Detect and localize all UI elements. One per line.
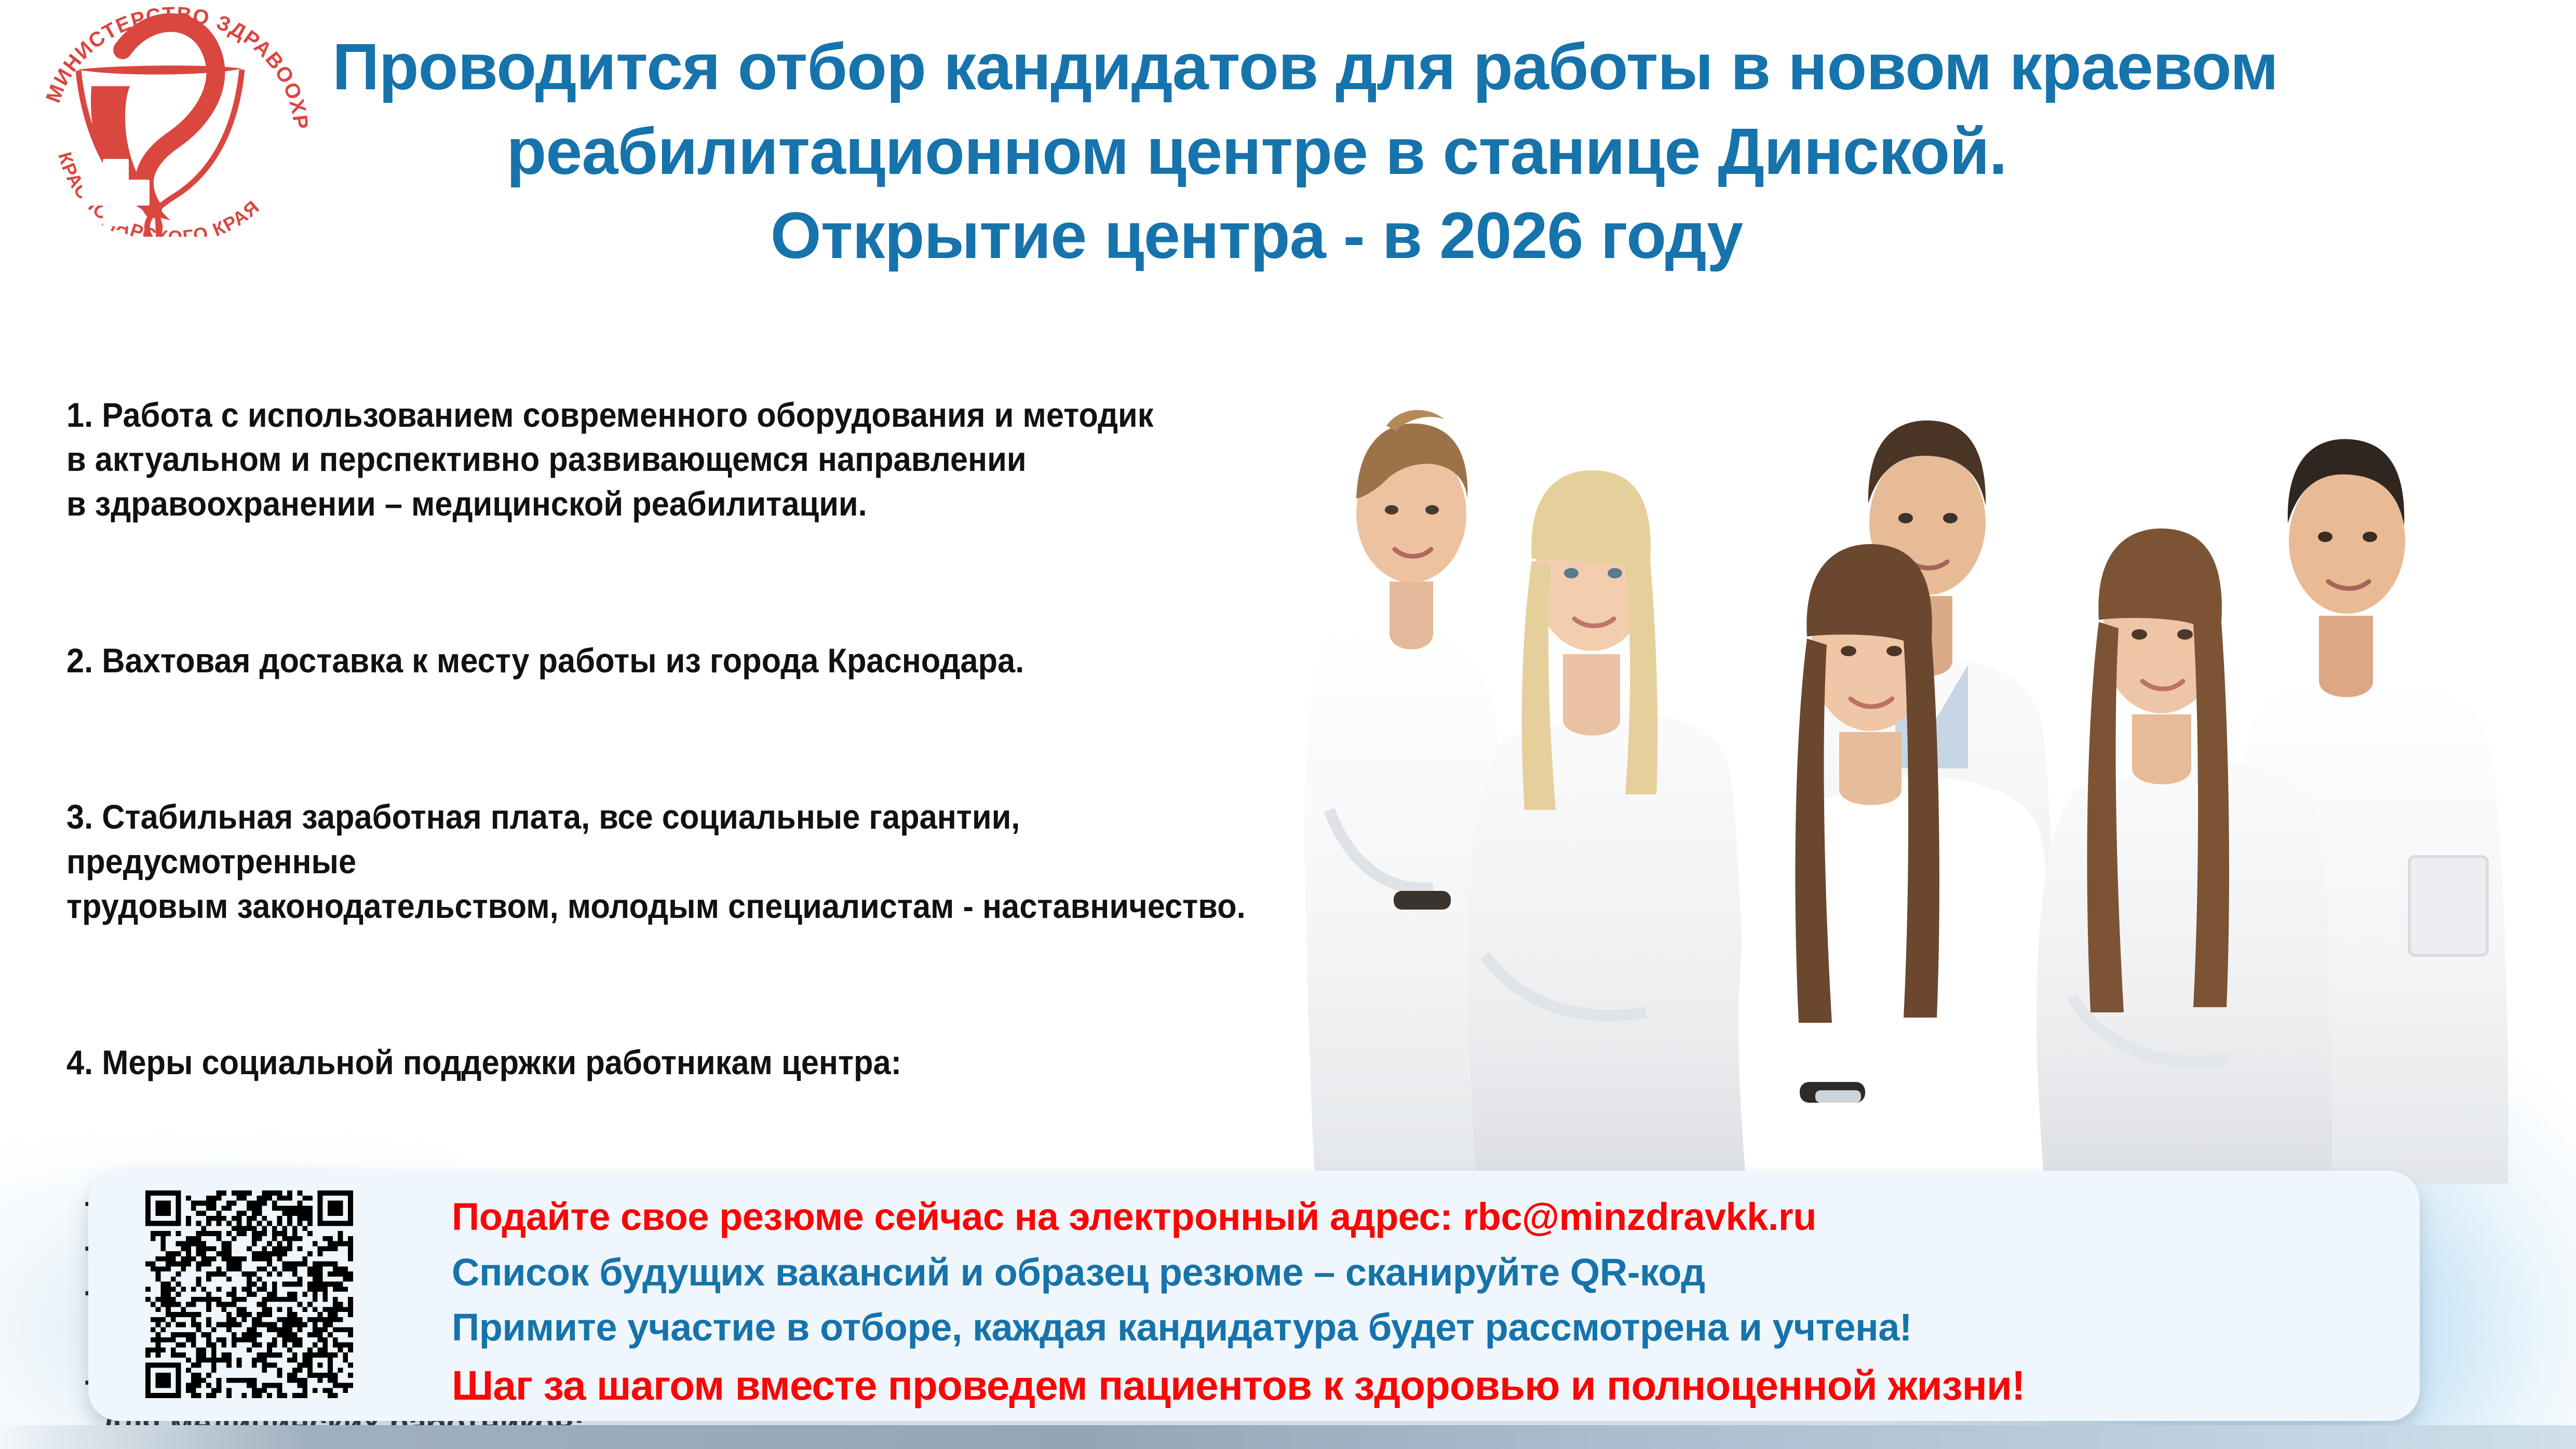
benefit-item-4-header: 4. Меры социальной поддержки работникам … [66, 1040, 1303, 1085]
headline-line-2: реабилитационном центре в станице Динско… [332, 110, 2181, 194]
recruitment-poster: МИНИСТЕРСТВО ЗДРАВООХРАНЕНИЯ КРАСНОДАРСК… [0, 0, 2576, 1449]
cta-line-participate: Примите участие в отборе, каждая кандида… [452, 1300, 2399, 1356]
headline-line-3: Открытие центра - в 2026 году [332, 194, 2181, 278]
ministry-logo: МИНИСТЕРСТВО ЗДРАВООХРАНЕНИЯ КРАСНОДАРСК… [19, 3, 330, 237]
benefit-item-1: 1. Работа с использованием современного … [66, 393, 1303, 526]
qr-code[interactable] [145, 1190, 353, 1398]
team-photo [1262, 270, 2529, 1184]
call-to-action-banner: Подайте свое резюме сейчас на электронны… [88, 1171, 2420, 1421]
page-title: Проводится отбор кандидатов для работы в… [332, 25, 2181, 278]
benefit-item-3: 3. Стабильная заработная плата, все соци… [66, 795, 1303, 928]
cta-line-slogan: Шаг за шагом вместе проведем пациентов к… [452, 1356, 2399, 1415]
cta-line-vacancy-list: Список будущих вакансий и образец резюме… [452, 1245, 2399, 1301]
benefit-item-2: 2. Вахтовая доставка к месту работы из г… [66, 639, 1303, 683]
cta-line-submit-resume: Подайте свое резюме сейчас на электронны… [452, 1189, 2399, 1245]
headline-line-1: Проводится отбор кандидатов для работы в… [332, 25, 2181, 110]
cta-text-block: Подайте свое резюме сейчас на электронны… [452, 1189, 2399, 1415]
